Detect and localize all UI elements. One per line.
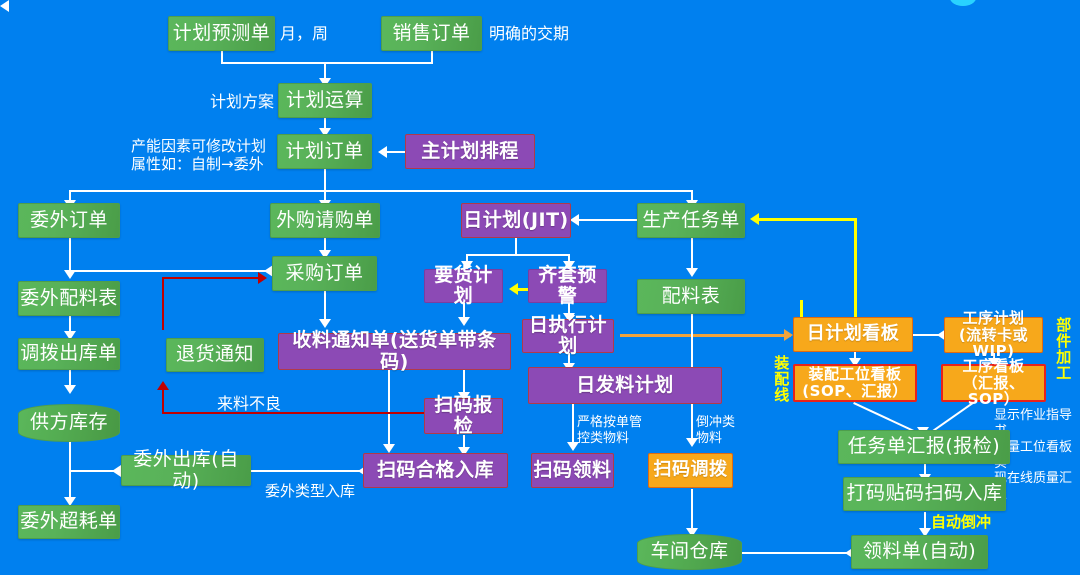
arrow-kit-to-demand: [509, 283, 518, 295]
node-pick-list-auto[interactable]: 领料单(自动): [851, 535, 988, 569]
flowchart-canvas: 计划预测单 销售订单 计划运算 计划订单 主计划排程 委外订单 外购请购单 日计…: [0, 0, 1080, 575]
node-transfer-out[interactable]: 调拨出库单: [18, 338, 120, 370]
label-parts-processing: 部件加工: [1054, 317, 1072, 381]
arrow-red-to-return: [157, 381, 169, 390]
arrow-kanban-to-task: [750, 213, 759, 225]
line-split-bar: [69, 190, 692, 192]
line-workshop-to-picklist: [740, 552, 850, 554]
arrow-exec-to-kanban: [784, 329, 793, 341]
label-incoming-defect: 来料不良: [217, 394, 281, 414]
line-exec-to-kanban: [620, 334, 791, 337]
node-kit-alert[interactable]: 齐套预警: [528, 269, 607, 303]
label-capacity-note: 产能因素可修改计划 属性如：自制→委外: [131, 137, 266, 174]
node-plan-calc[interactable]: 计划运算: [278, 83, 372, 118]
line-supplierstock-down: [69, 435, 71, 503]
node-process-plan[interactable]: 工序计划 (流转卡或WIP): [944, 317, 1043, 353]
node-plan-order[interactable]: 计划订单: [277, 134, 372, 169]
node-return-notice[interactable]: 退货通知: [166, 338, 264, 372]
arrow-to-outsourceout: [112, 465, 121, 477]
label-month-week: 月，周: [280, 24, 328, 44]
line-kanban-to-task: [757, 218, 857, 221]
watermark-blob: [950, 0, 976, 6]
line-outsource-to-po: [69, 270, 269, 272]
node-sales-order[interactable]: 销售订单: [381, 16, 482, 51]
line-red-return-up: [162, 277, 164, 330]
label-clear-delivery: 明确的交期: [489, 24, 569, 44]
line-red-up-to-return: [162, 389, 164, 413]
arrow-po-to-receipt: [319, 319, 331, 328]
line-forecast-join: [221, 62, 327, 64]
node-outsource-order[interactable]: 委外订单: [18, 203, 120, 238]
node-task-report[interactable]: 任务单汇报(报检): [838, 430, 1010, 464]
arrow-master-planorder-head: [378, 146, 387, 158]
node-bom-table[interactable]: 配料表: [637, 279, 745, 314]
arrow-to-outsourcebom: [64, 270, 76, 279]
node-daily-plan-jit[interactable]: 日计划(JIT): [461, 203, 571, 238]
node-workshop-warehouse[interactable]: 车间仓库: [637, 534, 742, 570]
label-auto-backflush: 自动倒冲: [931, 513, 991, 531]
node-outsource-over[interactable]: 委外超耗单: [18, 505, 120, 539]
line-kanban-corner: [854, 218, 857, 236]
node-assembly-station-kanban[interactable]: 装配工位看板 (SOP、汇报）: [793, 364, 917, 402]
line-red-defect: [162, 412, 441, 414]
line-planorder-down: [324, 168, 326, 192]
node-plan-forecast[interactable]: 计划预测单: [168, 16, 275, 51]
node-scan-pick[interactable]: 扫码领料: [531, 453, 614, 488]
node-master-schedule[interactable]: 主计划排程: [405, 134, 535, 169]
arrow-receipt-to-qualified: [383, 444, 395, 453]
line-jit-down: [515, 238, 517, 255]
node-receipt-notice[interactable]: 收料通知单(送货单带条码): [278, 333, 511, 370]
node-production-task[interactable]: 生产任务单: [637, 203, 745, 238]
arrow-task-to-bom: [686, 268, 698, 277]
label-assembly-line: 装配线: [772, 355, 790, 403]
node-daily-exec-plan[interactable]: 日执行计划: [522, 319, 614, 353]
node-scan-qualified-in[interactable]: 扫码合格入库: [363, 453, 508, 488]
line-salesorder-join: [327, 62, 433, 64]
label-strict-order-control: 严格按单管 控类物料: [577, 415, 642, 447]
label-plan-scheme: 计划方案: [210, 92, 274, 112]
arrow-red-to-po: [258, 272, 267, 284]
arrow-to-supplierstock: [64, 385, 76, 394]
node-purchase-req[interactable]: 外购请购单: [270, 203, 380, 238]
label-backflush-material: 倒冲类 物料: [696, 415, 735, 447]
arrow-master-to-planorder: [0, 0, 9, 12]
line-jit-split: [466, 254, 570, 256]
line-task-to-jit: [577, 219, 643, 221]
node-scan-inspect[interactable]: 扫码报检: [424, 398, 503, 434]
line-kanban-stub: [800, 300, 803, 318]
node-supplier-stock[interactable]: 供方库存: [18, 404, 120, 442]
node-outsource-out-auto[interactable]: 委外出库(自动): [121, 455, 251, 486]
arrow-demand-to-receipt: [458, 317, 470, 326]
node-mark-scan-in[interactable]: 打码贴码扫码入库: [843, 477, 1006, 511]
label-outsource-type-in: 委外类型入库: [265, 482, 355, 500]
node-purchase-order[interactable]: 采购订单: [272, 256, 377, 291]
line-issue-to-pick: [572, 400, 574, 448]
node-process-kanban[interactable]: 工序看板 （汇报、SOP）: [941, 364, 1046, 402]
line-receipt-to-qualified: [388, 370, 390, 450]
line-red-to-po: [162, 277, 260, 279]
line-supplier-to-outsourceout: [69, 470, 117, 472]
node-daily-kanban[interactable]: 日计划看板: [793, 317, 913, 352]
node-outsource-bom[interactable]: 委外配料表: [18, 281, 120, 316]
node-daily-issue-plan[interactable]: 日发料计划: [528, 367, 722, 404]
node-demand-plan[interactable]: 要货计划: [424, 269, 503, 303]
node-scan-transfer[interactable]: 扫码调拨: [648, 453, 733, 488]
line-outsourceout-to-scanin: [251, 470, 363, 472]
arrow-task-to-jit: [570, 214, 579, 226]
line-kanban-up: [854, 234, 857, 318]
